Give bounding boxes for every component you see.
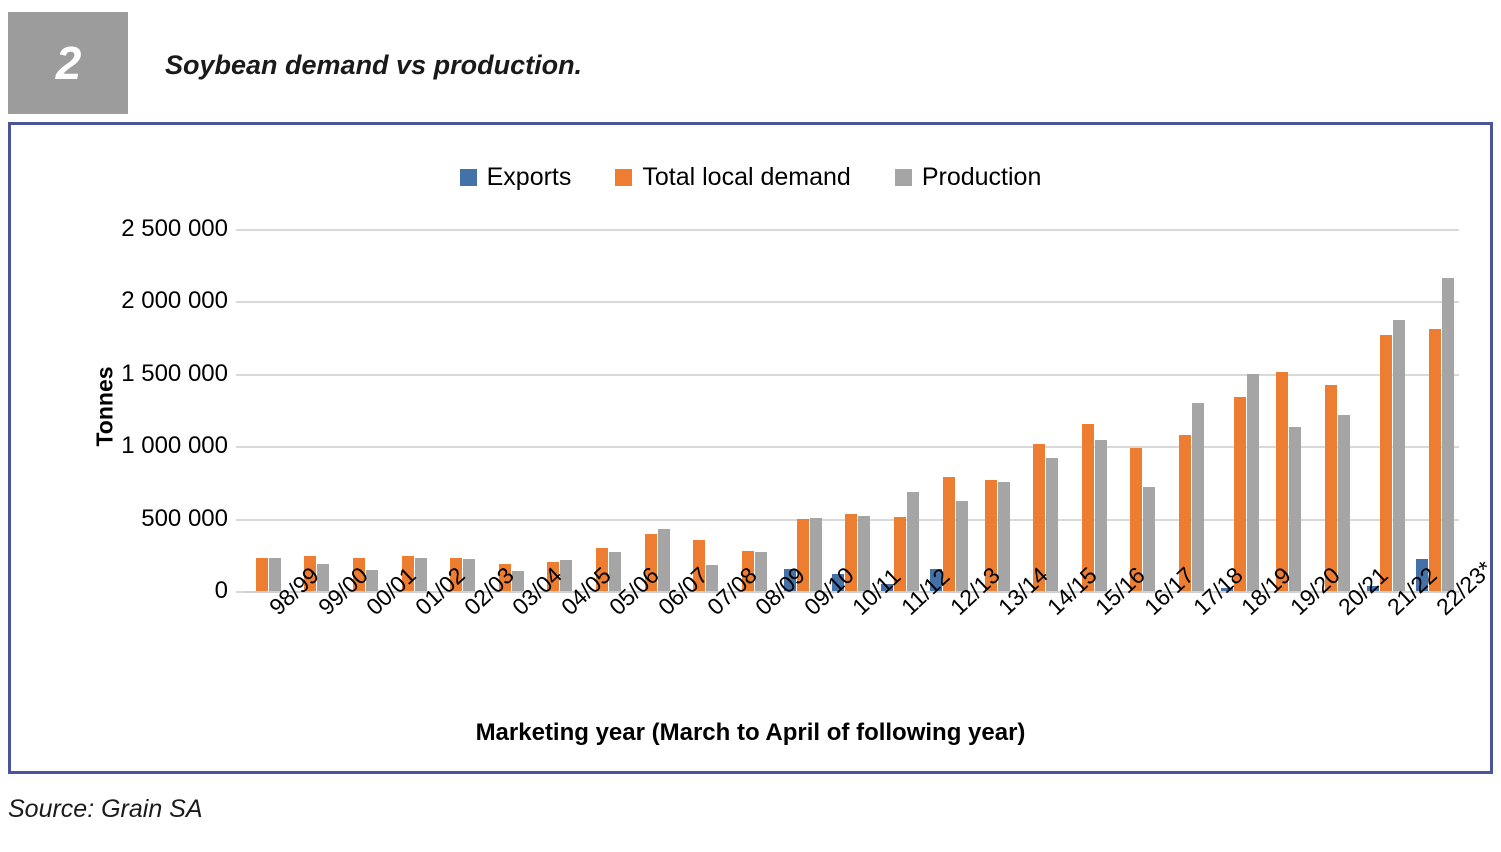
y-axis-tick-label: 0 bbox=[215, 577, 228, 605]
x-axis-tick-cell: 99/00 bbox=[293, 595, 342, 705]
x-axis-tick-cell: 03/04 bbox=[487, 595, 536, 705]
figure-number: 2 bbox=[56, 40, 81, 86]
bar-demand[interactable] bbox=[256, 558, 268, 591]
bar-group bbox=[876, 229, 925, 591]
bar-demand[interactable] bbox=[1429, 329, 1441, 591]
y-axis-tick-label: 1 000 000 bbox=[121, 432, 228, 460]
bar-production[interactable] bbox=[1289, 427, 1301, 591]
bar-group bbox=[1362, 229, 1411, 591]
figure-title: Soybean demand vs production. bbox=[165, 50, 582, 81]
y-axis-tick bbox=[236, 301, 244, 303]
x-axis-tick-cell: 18/19 bbox=[1216, 595, 1265, 705]
bar-demand[interactable] bbox=[1380, 335, 1392, 591]
bar-group bbox=[1313, 229, 1362, 591]
bar-production[interactable] bbox=[1095, 440, 1107, 591]
x-axis-tick-cell: 09/10 bbox=[779, 595, 828, 705]
x-axis-tick-cell: 22/23* bbox=[1410, 595, 1459, 705]
x-axis-tick-cell: 98/99 bbox=[244, 595, 293, 705]
bar-group bbox=[681, 229, 730, 591]
x-axis-tick-cell: 01/02 bbox=[390, 595, 439, 705]
bar-group bbox=[341, 229, 390, 591]
bar-group bbox=[973, 229, 1022, 591]
x-axis-tick-cell: 06/07 bbox=[633, 595, 682, 705]
bar-group bbox=[827, 229, 876, 591]
bar-demand[interactable] bbox=[1234, 397, 1246, 591]
bar-group bbox=[1070, 229, 1119, 591]
bar-production[interactable] bbox=[956, 501, 968, 591]
y-axis-tick-label: 1 500 000 bbox=[121, 360, 228, 388]
x-axis-tick-cell: 00/01 bbox=[341, 595, 390, 705]
x-axis-tick-cell: 04/05 bbox=[536, 595, 585, 705]
bar-group bbox=[779, 229, 828, 591]
bar-production[interactable] bbox=[1393, 320, 1405, 592]
x-axis-tick-cell: 02/03 bbox=[438, 595, 487, 705]
x-axis-tick-cell: 14/15 bbox=[1022, 595, 1071, 705]
y-axis-tick bbox=[236, 519, 244, 521]
bar-production[interactable] bbox=[1247, 374, 1259, 591]
bars-layer bbox=[244, 229, 1459, 591]
bar-group bbox=[487, 229, 536, 591]
bar-production[interactable] bbox=[1442, 278, 1454, 591]
source-note: Source: Grain SA bbox=[8, 795, 203, 824]
bar-group bbox=[1410, 229, 1459, 591]
x-axis-tick-cell: 12/13 bbox=[924, 595, 973, 705]
x-axis-tick-cell: 21/22 bbox=[1362, 595, 1411, 705]
x-axis-tick-labels: 98/9999/0000/0101/0202/0303/0404/0505/06… bbox=[244, 595, 1459, 705]
x-axis-tick-cell: 16/17 bbox=[1119, 595, 1168, 705]
bar-group bbox=[1119, 229, 1168, 591]
figure-page: 2 Soybean demand vs production. Exports … bbox=[0, 0, 1501, 852]
y-axis-tick bbox=[236, 229, 244, 231]
x-axis-tick-cell: 20/21 bbox=[1313, 595, 1362, 705]
y-axis-tick bbox=[236, 591, 244, 593]
bar-group bbox=[730, 229, 779, 591]
figure-header: 2 Soybean demand vs production. bbox=[0, 0, 1501, 118]
y-axis-tick-labels: 2 500 0002 000 0001 500 0001 000 000500 … bbox=[71, 229, 236, 591]
bar-group bbox=[438, 229, 487, 591]
bar-production[interactable] bbox=[1046, 458, 1058, 591]
x-axis-title: Marketing year (March to April of follow… bbox=[11, 719, 1490, 747]
bar-group bbox=[1264, 229, 1313, 591]
bar-group bbox=[244, 229, 293, 591]
bar-group bbox=[1022, 229, 1071, 591]
x-axis-tick-cell: 19/20 bbox=[1264, 595, 1313, 705]
y-axis-tick bbox=[236, 374, 244, 376]
bar-group bbox=[633, 229, 682, 591]
x-axis-tick-cell: 17/18 bbox=[1167, 595, 1216, 705]
bar-demand[interactable] bbox=[1325, 385, 1337, 591]
figure-number-box: 2 bbox=[8, 12, 128, 114]
bar-group bbox=[1167, 229, 1216, 591]
plot-wrapper: Tonnes 2 500 0002 000 0001 500 0001 000 … bbox=[11, 125, 1490, 771]
y-axis-tick-label: 2 500 000 bbox=[121, 215, 228, 243]
bar-group bbox=[536, 229, 585, 591]
bar-group bbox=[390, 229, 439, 591]
bar-group bbox=[1216, 229, 1265, 591]
x-axis-tick-cell: 07/08 bbox=[681, 595, 730, 705]
bar-group bbox=[293, 229, 342, 591]
bar-production[interactable] bbox=[1338, 415, 1350, 591]
y-axis-tick-label: 500 000 bbox=[141, 505, 228, 533]
y-axis-tick-label: 2 000 000 bbox=[121, 287, 228, 315]
x-axis-tick-cell: 05/06 bbox=[584, 595, 633, 705]
bar-group bbox=[584, 229, 633, 591]
x-axis-tick-cell: 11/12 bbox=[876, 595, 925, 705]
bar-demand[interactable] bbox=[1276, 372, 1288, 591]
chart-frame: Exports Total local demand Production To… bbox=[8, 122, 1493, 774]
bar-production[interactable] bbox=[1192, 403, 1204, 591]
x-axis-tick-cell: 13/14 bbox=[973, 595, 1022, 705]
x-axis-tick-cell: 15/16 bbox=[1070, 595, 1119, 705]
plot-area bbox=[244, 229, 1459, 591]
x-axis-tick-cell: 08/09 bbox=[730, 595, 779, 705]
y-axis-tick bbox=[236, 446, 244, 448]
bar-production[interactable] bbox=[907, 492, 919, 591]
bar-group bbox=[924, 229, 973, 591]
x-axis-tick-cell: 10/11 bbox=[827, 595, 876, 705]
